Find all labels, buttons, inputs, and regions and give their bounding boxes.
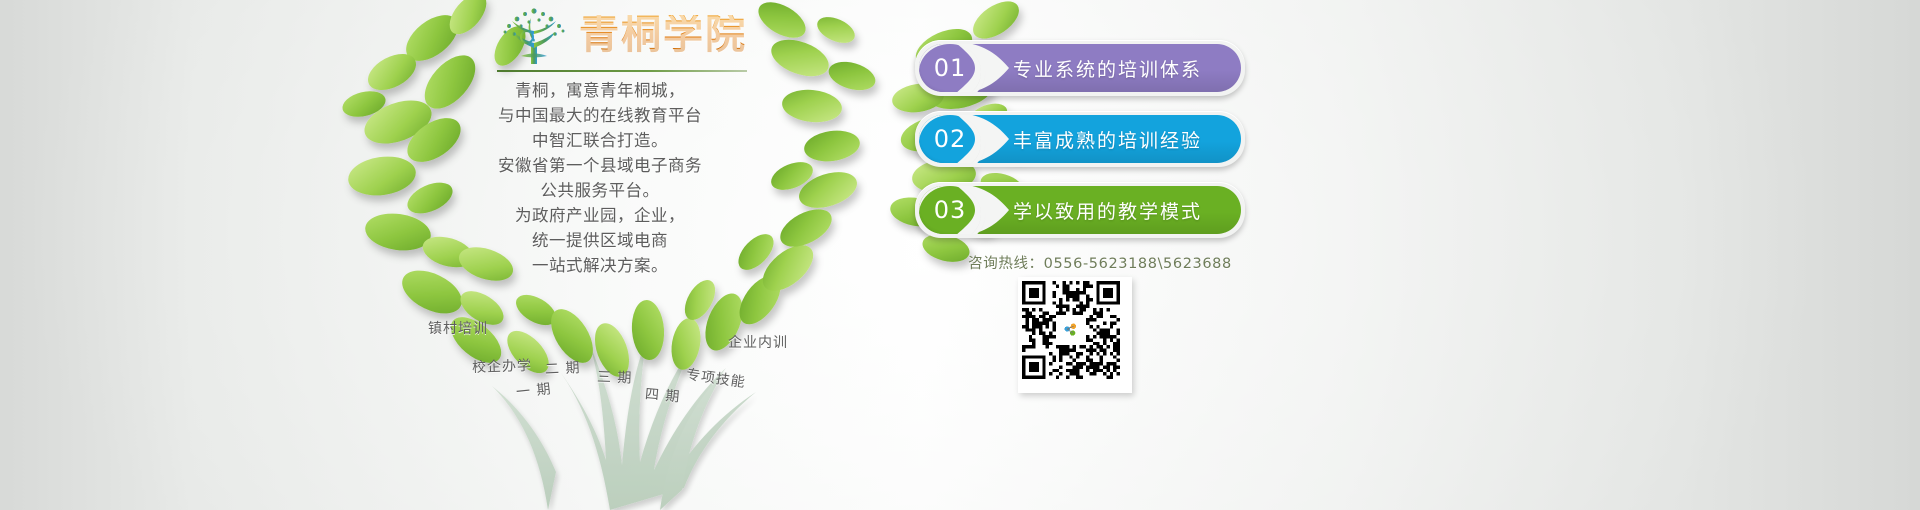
stage-label: 镇村培训 bbox=[428, 318, 488, 338]
stage-label: 四 期 bbox=[644, 383, 681, 406]
feature-label: 学以致用的教学模式 bbox=[1013, 197, 1202, 224]
stage-label: 二 期 bbox=[545, 357, 581, 379]
feature-list: 01专业系统的培训体系02丰富成熟的培训经验03学以致用的教学模式 bbox=[915, 40, 1245, 253]
feature-number: 01 bbox=[919, 44, 981, 92]
feature-number: 02 bbox=[919, 115, 981, 163]
stage-label: 专项技能 bbox=[685, 364, 747, 392]
promo-banner: 青桐学院 青桐，寓意青年桐城，与中国最大的在线教育平台中智汇联合打造。安徽省第一… bbox=[0, 0, 1920, 510]
feature-label: 专业系统的培训体系 bbox=[1013, 55, 1202, 82]
feature-number: 03 bbox=[919, 186, 981, 234]
stage-label: 校企办学 bbox=[472, 355, 533, 377]
stage-label: 一 期 bbox=[515, 378, 552, 402]
feature-label: 丰富成熟的培训经验 bbox=[1013, 126, 1202, 153]
stage-label: 企业内训 bbox=[728, 332, 788, 352]
stage-label: 三 期 bbox=[597, 366, 633, 387]
